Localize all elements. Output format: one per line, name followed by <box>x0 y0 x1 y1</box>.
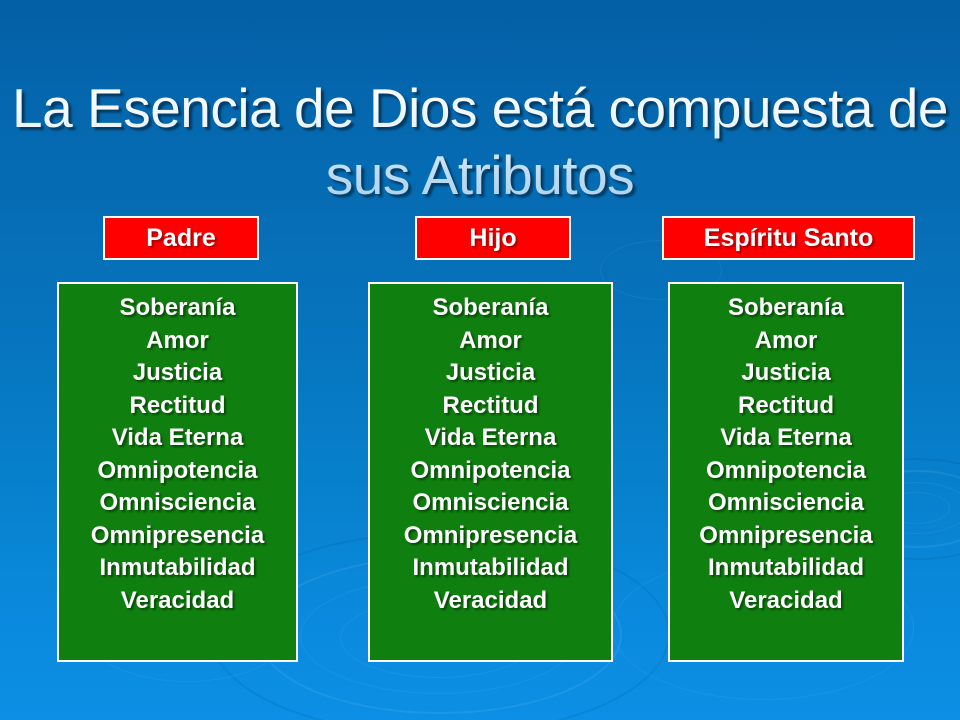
list-item: Inmutabilidad <box>370 552 611 585</box>
list-item: Omnipotencia <box>370 455 611 488</box>
list-item: Justicia <box>59 357 296 390</box>
header-box-espiritu-santo[interactable]: Espíritu Santo <box>662 216 915 260</box>
list-item: Rectitud <box>59 390 296 423</box>
list-item: Amor <box>670 325 902 358</box>
list-item: Inmutabilidad <box>670 552 902 585</box>
list-item: Inmutabilidad <box>59 552 296 585</box>
list-item: Omnisciencia <box>370 487 611 520</box>
list-item: Vida Eterna <box>670 422 902 455</box>
list-item: Omnipresencia <box>59 520 296 553</box>
header-box-hijo[interactable]: Hijo <box>415 216 571 260</box>
attributes-box-hijo: Soberanía Amor Justicia Rectitud Vida Et… <box>368 282 613 662</box>
list-item: Omnipotencia <box>670 455 902 488</box>
header-box-padre[interactable]: Padre <box>103 216 259 260</box>
attribute-list-hijo: Soberanía Amor Justicia Rectitud Vida Et… <box>370 292 611 617</box>
list-item: Rectitud <box>370 390 611 423</box>
list-item: Soberanía <box>59 292 296 325</box>
list-item: Veracidad <box>59 585 296 618</box>
list-item: Omnisciencia <box>670 487 902 520</box>
list-item: Justicia <box>670 357 902 390</box>
attributes-box-padre: Soberanía Amor Justicia Rectitud Vida Et… <box>57 282 298 662</box>
list-item: Vida Eterna <box>370 422 611 455</box>
list-item: Justicia <box>370 357 611 390</box>
list-item: Soberanía <box>670 292 902 325</box>
list-item: Rectitud <box>670 390 902 423</box>
list-item: Soberanía <box>370 292 611 325</box>
list-item: Omnipresencia <box>670 520 902 553</box>
attribute-list-padre: Soberanía Amor Justicia Rectitud Vida Et… <box>59 292 296 617</box>
list-item: Vida Eterna <box>59 422 296 455</box>
list-item: Amor <box>59 325 296 358</box>
list-item: Veracidad <box>370 585 611 618</box>
list-item: Veracidad <box>670 585 902 618</box>
page-title: La Esencia de Dios está compuesta de sus… <box>0 75 960 209</box>
list-item: Amor <box>370 325 611 358</box>
list-item: Omnisciencia <box>59 487 296 520</box>
slide-canvas: La Esencia de Dios está compuesta de sus… <box>0 0 960 720</box>
attributes-box-espiritu-santo: Soberanía Amor Justicia Rectitud Vida Et… <box>668 282 904 662</box>
list-item: Omnipotencia <box>59 455 296 488</box>
attribute-list-espiritu-santo: Soberanía Amor Justicia Rectitud Vida Et… <box>670 292 902 617</box>
list-item: Omnipresencia <box>370 520 611 553</box>
